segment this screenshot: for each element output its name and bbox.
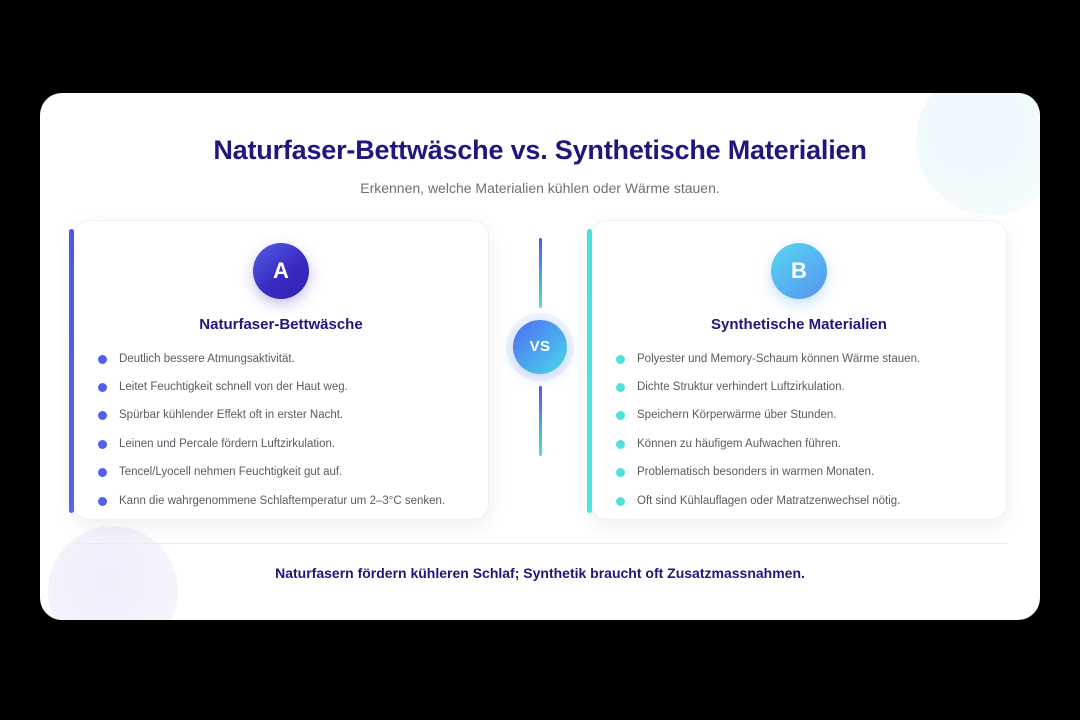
bullet-text: Dichte Struktur verhindert Luftzirkulati… [637,380,845,394]
list-item: Speichern Körperwärme über Stunden. [616,408,984,422]
bullet-dot-icon [616,383,625,392]
bullet-dot-icon [98,355,107,364]
bullet-text: Leitet Feuchtigkeit schnell von der Haut… [119,380,348,394]
bullet-dot-icon [98,383,107,392]
footer-divider [73,543,1007,544]
connector-line-top [539,238,542,308]
bullet-dot-icon [616,355,625,364]
vs-divider: VS [502,220,578,520]
infographic-panel: Naturfaser-Bettwäsche vs. Synthetische M… [40,93,1040,620]
page-title: Naturfaser-Bettwäsche vs. Synthetische M… [40,136,1040,166]
list-item: Tencel/Lyocell nehmen Feuchtigkeit gut a… [98,465,466,479]
card-title-b: Synthetische Materialien [592,316,1006,333]
list-item: Leitet Feuchtigkeit schnell von der Haut… [98,380,466,394]
list-item: Oft sind Kühlauflagen oder Matratzenwech… [616,494,984,508]
comparison-card-b: B Synthetische Materialien Polyester und… [591,220,1007,520]
vs-badge: VS [513,320,567,374]
bullet-text: Deutlich bessere Atmungsaktivität. [119,352,295,366]
bullet-dot-icon [98,411,107,420]
accent-bar-b [587,229,592,513]
list-item: Deutlich bessere Atmungsaktivität. [98,352,466,366]
accent-bar-a [69,229,74,513]
badge-b: B [771,243,827,299]
list-item: Kann die wahrgenommene Schlaftemperatur … [98,494,466,508]
footer-note: Naturfasern fördern kühleren Schlaf; Syn… [40,565,1040,581]
bullet-dot-icon [98,468,107,477]
bullet-dot-icon [98,440,107,449]
badge-a: A [253,243,309,299]
card-title-a: Naturfaser-Bettwäsche [74,316,488,333]
bullet-dot-icon [98,497,107,506]
bullet-text: Oft sind Kühlauflagen oder Matratzenwech… [637,494,900,508]
bullet-dot-icon [616,440,625,449]
page-subtitle: Erkennen, welche Materialien kühlen oder… [40,180,1040,196]
list-item: Dichte Struktur verhindert Luftzirkulati… [616,380,984,394]
bullet-text: Speichern Körperwärme über Stunden. [637,408,836,422]
bullet-text: Leinen und Percale fördern Luftzirkulati… [119,437,335,451]
bullet-dot-icon [616,411,625,420]
header: Naturfaser-Bettwäsche vs. Synthetische M… [40,93,1040,196]
bullet-text: Tencel/Lyocell nehmen Feuchtigkeit gut a… [119,465,342,479]
list-item: Können zu häufigem Aufwachen führen. [616,437,984,451]
screenshot-stage: Naturfaser-Bettwäsche vs. Synthetische M… [0,0,1080,720]
bullet-dot-icon [616,468,625,477]
bullet-text: Kann die wahrgenommene Schlaftemperatur … [119,494,445,508]
bullet-text: Polyester und Memory-Schaum können Wärme… [637,352,920,366]
list-item: Spürbar kühlender Effekt oft in erster N… [98,408,466,422]
connector-line-bottom [539,386,542,456]
list-item: Leinen und Percale fördern Luftzirkulati… [98,437,466,451]
bullet-text: Spürbar kühlender Effekt oft in erster N… [119,408,343,422]
comparison-area: A Naturfaser-Bettwäsche Deutlich bessere… [73,220,1007,522]
bullet-list-b: Polyester und Memory-Schaum können Wärme… [592,352,1006,508]
bullet-text: Problematisch besonders in warmen Monate… [637,465,874,479]
bullet-list-a: Deutlich bessere Atmungsaktivität. Leite… [74,352,488,508]
comparison-card-a: A Naturfaser-Bettwäsche Deutlich bessere… [73,220,489,520]
list-item: Problematisch besonders in warmen Monate… [616,465,984,479]
bullet-dot-icon [616,497,625,506]
list-item: Polyester und Memory-Schaum können Wärme… [616,352,984,366]
bullet-text: Können zu häufigem Aufwachen führen. [637,437,841,451]
